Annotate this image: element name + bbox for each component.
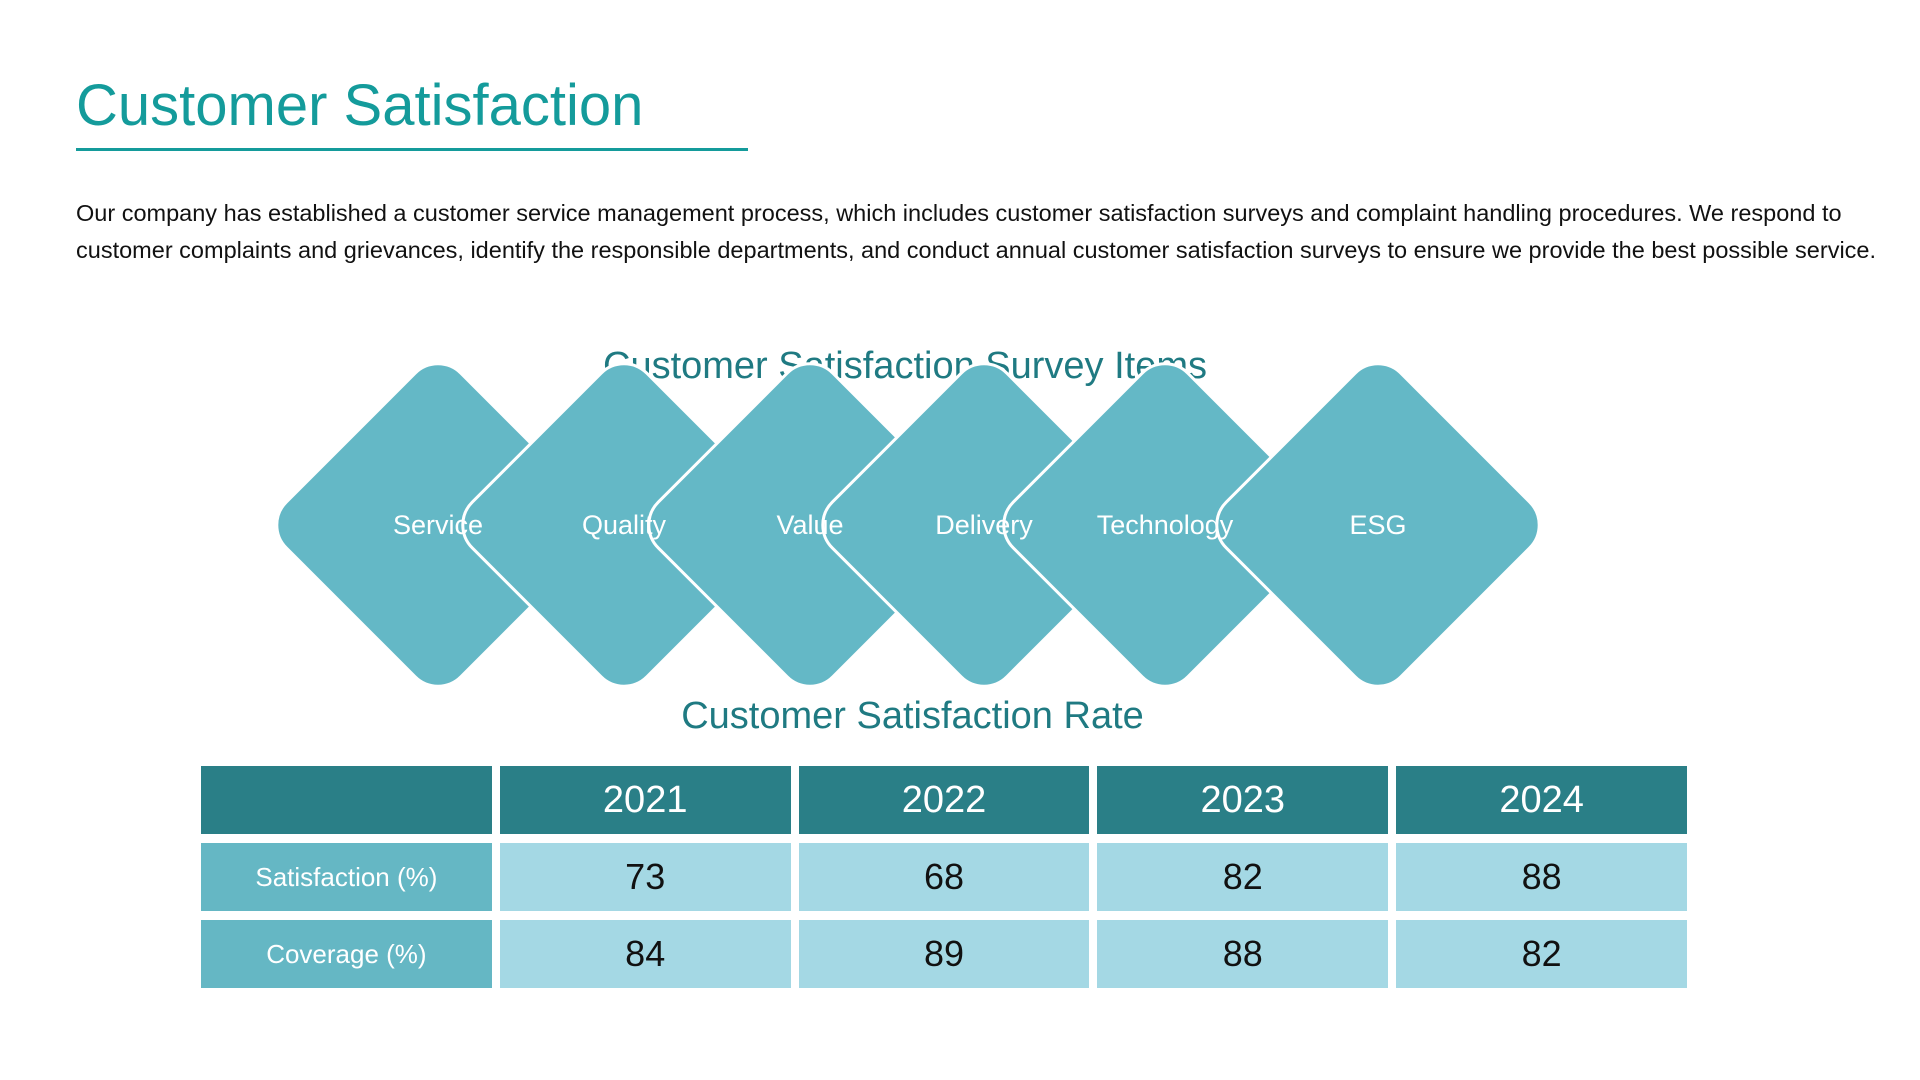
cell-coverage-2023: 88 — [1097, 920, 1388, 988]
row-label-satisfaction: Satisfaction (%) — [201, 843, 492, 911]
cell-coverage-2021: 84 — [500, 920, 791, 988]
title-underline — [76, 148, 748, 151]
table-corner-cell — [201, 766, 492, 834]
cell-coverage-2022: 89 — [799, 920, 1090, 988]
intro-paragraph: Our company has established a customer s… — [76, 195, 1886, 269]
survey-item-esg[interactable]: ESG — [1253, 400, 1503, 650]
diamond-shape — [1201, 348, 1555, 702]
table-column-header-2024: 2024 — [1396, 766, 1687, 834]
page-title: Customer Satisfaction — [76, 76, 643, 137]
cell-satisfaction-2022: 68 — [799, 843, 1090, 911]
cell-coverage-2024: 82 — [1396, 920, 1687, 988]
satisfaction-rate-heading: Customer Satisfaction Rate — [0, 695, 1825, 738]
cell-satisfaction-2023: 82 — [1097, 843, 1388, 911]
survey-items-heading: Customer Satisfaction Survey Items — [0, 345, 1810, 388]
table-row: Satisfaction (%) 73 68 82 88 — [201, 843, 1687, 911]
table-row: Coverage (%) 84 89 88 82 — [201, 920, 1687, 988]
satisfaction-rate-table-wrap: 2021 2022 2023 2024 Satisfaction (%) 73 … — [193, 757, 1695, 997]
satisfaction-rate-table: 2021 2022 2023 2024 Satisfaction (%) 73 … — [193, 757, 1695, 997]
table-column-header-2023: 2023 — [1097, 766, 1388, 834]
table-column-header-2022: 2022 — [799, 766, 1090, 834]
table-column-header-2021: 2021 — [500, 766, 791, 834]
row-label-coverage: Coverage (%) — [201, 920, 492, 988]
cell-satisfaction-2021: 73 — [500, 843, 791, 911]
cell-satisfaction-2024: 88 — [1396, 843, 1687, 911]
table-header-row: 2021 2022 2023 2024 — [201, 766, 1687, 834]
slide-canvas: Customer Satisfaction Our company has es… — [0, 0, 1920, 1080]
survey-items-diamond-row: Service Quality Value Delivery Technolog… — [313, 400, 1503, 650]
